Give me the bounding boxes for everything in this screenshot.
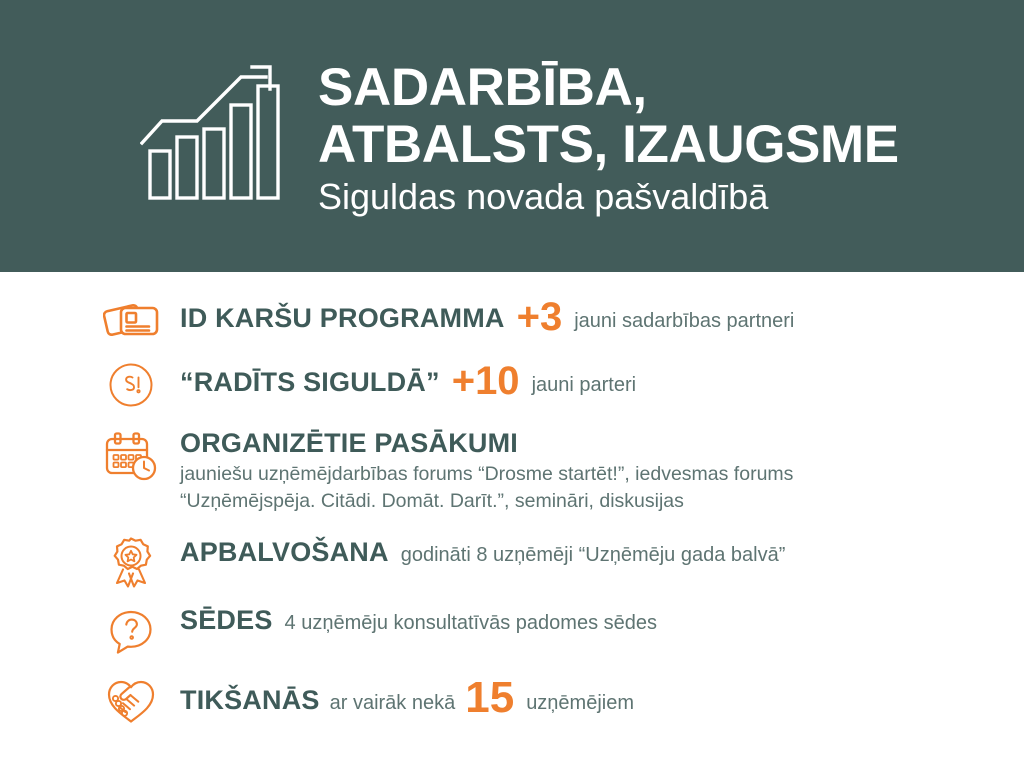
stat-body: “RADĪTS SIGULDĀ” +10 jauni parteri (180, 356, 984, 398)
stat-row-council-sessions: SĒDES 4 uzņēmēju konsultatīvās padomes s… (0, 603, 1024, 661)
stat-note: jauni parteri (532, 374, 637, 397)
stat-row-organized-events: ORGANIZĒTIE PASĀKUMI jauniešu uzņēmējdar… (0, 426, 1024, 515)
stat-note: jauni sadarbības partneri (574, 310, 794, 333)
stat-description-line-2: “Uzņēmējspēja. Citādi. Domāt. Darīt.”, s… (180, 488, 940, 515)
stat-number: 15 (465, 676, 514, 720)
stat-main-line: SĒDES 4 uzņēmēju konsultatīvās padomes s… (180, 605, 984, 636)
stat-title: ID KARŠU PROGRAMMA (180, 303, 505, 334)
question-speech-bubble-icon (100, 603, 162, 661)
stat-row-meetings-entrepreneurs: TIKŠANĀS ar vairāk nekā 15 uzņēmējiem (0, 671, 1024, 729)
stat-main-line: APBALVOŠANA godināti 8 uzņēmēji “Uzņēmēj… (180, 537, 984, 568)
handshake-heart-icon (100, 671, 162, 729)
stat-title: APBALVOŠANA (180, 537, 389, 568)
stat-number: +3 (517, 297, 563, 337)
stat-note: godināti 8 uzņēmēji “Uzņēmēju gada balvā… (401, 544, 786, 567)
stat-body: ID KARŠU PROGRAMMA +3 jauni sadarbības p… (180, 292, 984, 334)
poster-header: SADARBĪBA, ATBALSTS, IZAUGSME Siguldas n… (0, 0, 1024, 272)
stat-main-line: ORGANIZĒTIE PASĀKUMI (180, 428, 984, 459)
stat-main-line: ID KARŠU PROGRAMMA +3 jauni sadarbības p… (180, 294, 984, 334)
stat-row-radits-sigulda: “RADĪTS SIGULDĀ” +10 jauni parteri (0, 356, 1024, 414)
header-title-block: SADARBĪBA, ATBALSTS, IZAUGSME Siguldas n… (318, 53, 899, 219)
calendar-clock-icon (100, 428, 162, 486)
stat-note-before: ar vairāk nekā (330, 692, 456, 715)
stat-title: “RADĪTS SIGULDĀ” (180, 367, 440, 398)
page-title-line-2: ATBALSTS, IZAUGSME (318, 116, 899, 173)
id-cards-icon (100, 292, 162, 350)
stat-title: TIKŠANĀS (180, 685, 320, 716)
stat-body: SĒDES 4 uzņēmēju konsultatīvās padomes s… (180, 603, 984, 636)
stat-note-after: uzņēmējiem (526, 692, 634, 715)
stat-body: TIKŠANĀS ar vairāk nekā 15 uzņēmējiem (180, 671, 984, 717)
stat-title: ORGANIZĒTIE PASĀKUMI (180, 428, 518, 459)
stats-list: ID KARŠU PROGRAMMA +3 jauni sadarbības p… (0, 272, 1024, 729)
stat-main-line: TIKŠANĀS ar vairāk nekā 15 uzņēmējiem (180, 673, 984, 717)
page-title-line-1: SADARBĪBA, (318, 59, 899, 116)
stat-title: SĒDES (180, 605, 273, 636)
stat-row-id-cards: ID KARŠU PROGRAMMA +3 jauni sadarbības p… (0, 292, 1024, 350)
stat-body: ORGANIZĒTIE PASĀKUMI jauniešu uzņēmējdar… (180, 426, 984, 515)
stat-row-awards: APBALVOŠANA godināti 8 uzņēmēji “Uzņēmēj… (0, 535, 1024, 593)
radits-sigulda-badge-icon (100, 356, 162, 414)
award-rosette-icon (100, 535, 162, 593)
stat-number: +10 (452, 361, 520, 401)
growth-bar-chart-arrow-icon (140, 63, 290, 213)
infographic-poster: SADARBĪBA, ATBALSTS, IZAUGSME Siguldas n… (0, 0, 1024, 768)
stat-description-line-1: jauniešu uzņēmējdarbības forums “Drosme … (180, 461, 940, 488)
stat-main-line: “RADĪTS SIGULDĀ” +10 jauni parteri (180, 358, 984, 398)
stat-note: 4 uzņēmēju konsultatīvās padomes sēdes (285, 612, 657, 635)
page-subtitle: Siguldas novada pašvaldībā (318, 175, 899, 219)
stat-body: APBALVOŠANA godināti 8 uzņēmēji “Uzņēmēj… (180, 535, 984, 568)
